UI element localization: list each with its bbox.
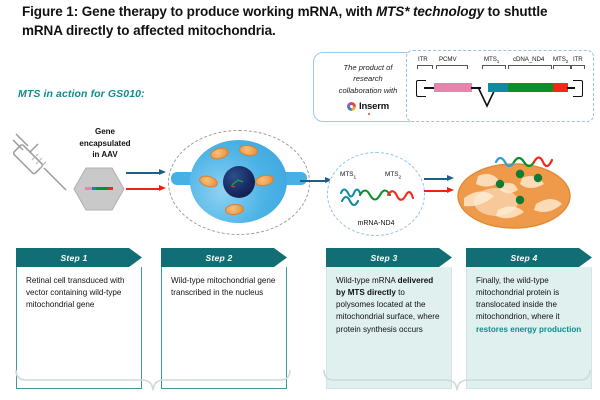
construct-label-mts2: MTS2 bbox=[553, 56, 568, 64]
gene-encapsulated-caption: Gene encapsulated in AAV bbox=[70, 126, 140, 161]
segment-cdna-nd4 bbox=[508, 83, 553, 92]
step-card-4: Step 4 Finally, the wild-type mitochondr… bbox=[466, 248, 592, 389]
caption-line-1: Gene bbox=[70, 126, 140, 138]
caption-line-2: encapsulated bbox=[70, 138, 140, 150]
step-card-1: Step 1 Retinal cell transduced with vect… bbox=[16, 248, 142, 389]
inserm-line-3: collaboration with bbox=[333, 85, 404, 96]
inserm-pinwheel-icon bbox=[347, 102, 356, 111]
construct-label-mts1: MTS1 bbox=[484, 56, 499, 64]
construct-label-cdna: cDNA_ND4 bbox=[513, 56, 544, 63]
inserm-line-1: The product of bbox=[338, 62, 399, 73]
capsid-mini-construct bbox=[85, 187, 113, 190]
section-heading: MTS in action for GS010: bbox=[18, 88, 145, 100]
step-card-3: Step 3 Wild-type mRNA delivered by MTS d… bbox=[326, 248, 452, 389]
construct-label-itr-left: ITR bbox=[418, 56, 428, 63]
step-3-header: Step 3 bbox=[326, 248, 452, 267]
mrna-strand-icon bbox=[338, 183, 416, 211]
itr-right-bracket-icon bbox=[573, 80, 583, 97]
title-text-part1: Figure 1: Gene therapy to produce workin… bbox=[22, 4, 376, 19]
segment-mts2 bbox=[553, 83, 568, 92]
page-title: Figure 1: Gene therapy to produce workin… bbox=[22, 2, 582, 40]
figure-root: Figure 1: Gene therapy to produce workin… bbox=[0, 0, 600, 400]
retinal-cell-icon bbox=[163, 128, 318, 236]
step-3-text-before: Wild-type mRNA bbox=[336, 276, 398, 285]
nucleus-icon bbox=[223, 166, 255, 198]
construct-labels: ITR PCMV MTS1 cDNA_ND4 MTS2 ITR bbox=[407, 56, 593, 68]
step-card-2: Step 2 Wild-type mitochondrial gene tran… bbox=[161, 248, 287, 389]
step-3-label: Step 3 bbox=[371, 253, 398, 263]
step-2-label: Step 2 bbox=[206, 253, 233, 263]
step-4-header: Step 4 bbox=[466, 248, 592, 267]
step-2-header: Step 2 bbox=[161, 248, 287, 267]
mrna-nd4-icon: MTS1 MTS2 mRNA-ND4 bbox=[327, 152, 425, 236]
construct-label-itr-right: ITR bbox=[573, 56, 583, 63]
caption-line-3: in AAV bbox=[70, 149, 140, 161]
mrna-caption: mRNA-ND4 bbox=[328, 220, 424, 227]
construct-track bbox=[407, 77, 593, 107]
segment-pcmv bbox=[434, 83, 472, 92]
mrna-label-mts1: MTS1 bbox=[340, 171, 356, 180]
construct-label-pcmv: PCMV bbox=[439, 56, 456, 63]
title-text-italic: MTS* technology bbox=[376, 4, 484, 19]
syringe-icon bbox=[10, 130, 72, 196]
inserm-wordmark: Inserm bbox=[359, 101, 389, 112]
step-4-text-accent: restores energy production bbox=[476, 325, 581, 334]
step-4-label: Step 4 bbox=[511, 253, 538, 263]
brace-right bbox=[322, 370, 592, 400]
brace-left bbox=[14, 370, 292, 400]
step-1-header: Step 1 bbox=[16, 248, 142, 267]
gene-construct-panel: ITR PCMV MTS1 cDNA_ND4 MTS2 ITR bbox=[406, 50, 594, 122]
inserm-logo: Inserm bbox=[347, 101, 389, 112]
aav-capsid-hexagon-icon bbox=[72, 166, 126, 212]
mrna-label-mts2: MTS2 bbox=[385, 171, 401, 180]
step-1-label: Step 1 bbox=[61, 253, 88, 263]
segment-mts1 bbox=[488, 83, 508, 92]
mitochondrion-large-icon bbox=[452, 148, 580, 234]
injection-panel: Gene encapsulated in AAV bbox=[10, 118, 140, 223]
step-4-text-before: Finally, the wild-type mitochondrial pro… bbox=[476, 276, 560, 321]
inserm-line-2: research bbox=[347, 73, 389, 84]
